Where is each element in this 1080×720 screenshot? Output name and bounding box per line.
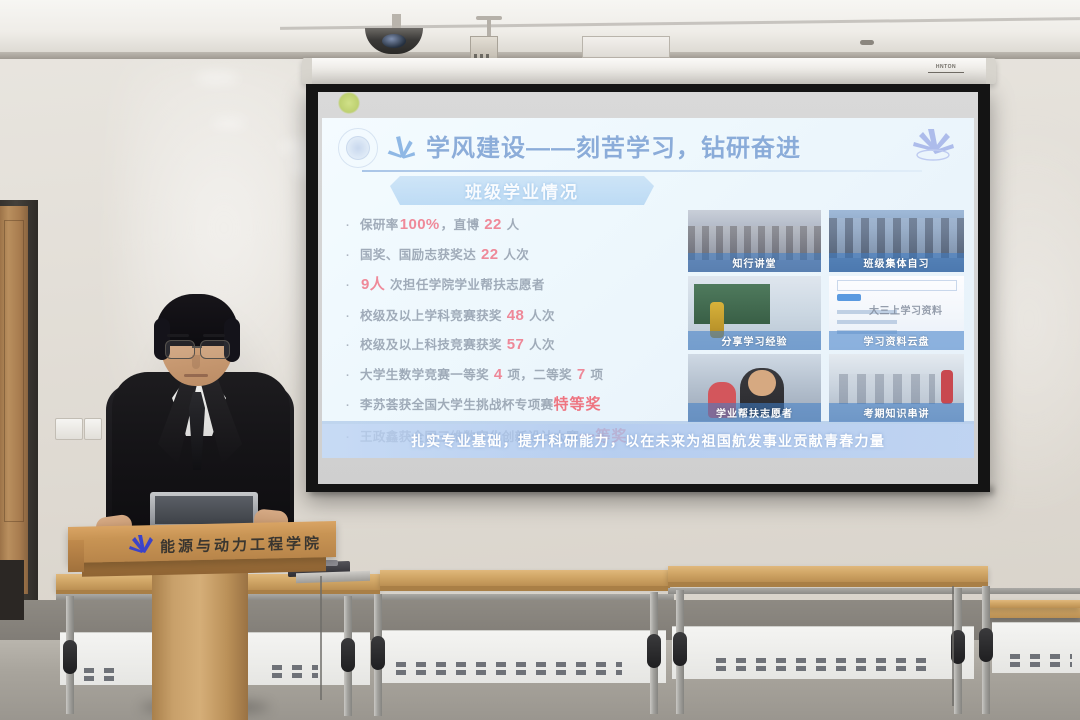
university-seal-icon <box>338 128 378 168</box>
bullet-mid: 次担任学院学业帮扶志愿者 <box>386 278 545 292</box>
bullet-dot-icon: · <box>346 370 360 382</box>
list-item: · 9人 次担任学院学业帮扶志愿者 <box>346 273 682 294</box>
screen-brand-label: HNTON <box>928 64 964 76</box>
photo-seats-texture <box>839 374 935 404</box>
bullet-list: · 保研率100%，直博 22 人 · 国奖、国励志获奖达 22 人次 · 9人… <box>346 214 682 456</box>
photo-caption: 分享学习经验 <box>688 331 821 350</box>
slide-photo: 分享学习经验 <box>688 276 821 350</box>
ui-button-mock <box>837 294 861 301</box>
bullet-post: 人 <box>503 218 520 232</box>
bullet-post: 项 <box>587 368 604 382</box>
podium-side <box>68 540 84 572</box>
bullet-pre: 保研率 <box>360 218 399 232</box>
bullet-highlight: 100% <box>399 216 441 233</box>
presenter-nose <box>192 355 200 369</box>
desk-vent-slots <box>272 665 318 670</box>
photo-caption: 知行讲堂 <box>688 253 821 272</box>
bullet-dot-icon: · <box>346 340 360 352</box>
bullet-dot-icon: · <box>346 250 360 262</box>
wall-scuff <box>212 118 246 128</box>
wall-outlet-right[interactable] <box>84 418 102 440</box>
bullet-highlight: 57 <box>506 336 526 353</box>
lens-flare <box>338 92 360 114</box>
glasses-bridge-icon <box>192 346 202 348</box>
list-item: · 国奖、国励志获奖达 22 人次 <box>346 244 682 263</box>
title-underline <box>362 170 922 172</box>
slide-photo: 班级集体自习 <box>829 210 964 272</box>
bullet-dot-icon: · <box>346 220 360 232</box>
ceiling-air-vent <box>582 36 670 58</box>
photo-caption: 学习资料云盘 <box>829 331 964 350</box>
podium-leaf-logo-icon <box>128 532 156 558</box>
slide-footer-text: 扎实专业基础，提升科研能力，以在未来为祖国航发事业贡献青春力量 <box>322 431 974 451</box>
door-panel <box>4 220 24 522</box>
hanging-cable <box>952 586 954 706</box>
photo-face <box>748 370 776 396</box>
glasses-lens-right-icon <box>200 340 230 359</box>
bullet-highlight: 48 <box>506 307 526 324</box>
ui-row-mock <box>837 320 897 324</box>
desk-leg-cap <box>647 634 661 668</box>
ceiling-soffit <box>0 0 1080 58</box>
hanging-cable <box>320 576 322 700</box>
bullet-highlight: 9人 <box>360 276 386 293</box>
screen-housing-cap-right <box>986 58 996 84</box>
photo-audience-texture <box>829 218 964 258</box>
desk-rail <box>668 588 1080 594</box>
cloud-folder-note: 大三上学习资料 <box>869 302 943 317</box>
bullet-post: 人次 <box>525 338 555 352</box>
list-item: · 保研率100%，直博 22 人 <box>346 214 682 233</box>
bullet-pre: 校级及以上学科竞赛获奖 <box>360 309 506 323</box>
bullet-dot-icon: · <box>346 280 360 292</box>
glasses-lens-left-icon <box>165 340 195 359</box>
bullet-pre: 校级及以上科技竞赛获奖 <box>360 338 506 352</box>
slide-photo: 学业帮扶志愿者 <box>688 354 821 422</box>
photo-blackboard <box>694 284 770 324</box>
bullet-highlight: 22 <box>480 246 500 263</box>
bullet-highlight-2: 22 <box>483 216 503 233</box>
slide-photo: 考期知识串讲 <box>829 354 964 422</box>
desk-vent-slots <box>396 670 622 675</box>
screen-housing-cap-left <box>302 58 312 84</box>
desk-top <box>986 600 1080 608</box>
desk-rail <box>56 594 674 600</box>
bullet-pre: 国奖、国励志获奖达 <box>360 248 480 262</box>
wall-light-sheen-right <box>980 120 1080 520</box>
bullet-mid: 项，二等奖 <box>504 368 576 382</box>
leaf-accent-icon <box>384 132 418 162</box>
podium-label: 能源与动力工程学院 <box>160 532 322 557</box>
projection-screen-housing[interactable] <box>302 58 996 84</box>
section-ribbon-label: 班级学业情况 <box>390 178 654 203</box>
door-lower-shadow <box>0 560 24 620</box>
presentation-slide[interactable]: 学风建设——刻苦学习，钻研奋进 班级学业情况 · 保研率100%，直博 22 人… <box>322 118 974 458</box>
photo-person <box>941 370 953 404</box>
podium-column <box>152 566 248 720</box>
bullet-pre: 大学生数学竞赛一等奖 <box>360 368 493 382</box>
bullet-post: 人次 <box>499 248 529 262</box>
bullet-highlight: 特等奖 <box>554 396 602 413</box>
list-item: · 李苏荟获全国大学生挑战杯专项赛特等奖 <box>346 393 682 414</box>
wall-outlet-left[interactable] <box>55 418 83 440</box>
desk-leg-cap <box>63 640 77 674</box>
presenter-eyebrow-right <box>203 334 225 337</box>
desk-edge <box>380 586 670 591</box>
desk-leg-cap <box>371 636 385 670</box>
desk-modesty-panel <box>376 630 666 683</box>
desk-leg-cap <box>341 638 355 672</box>
desk-leg-cap <box>979 628 993 662</box>
slide-photo: 大三上学习资料 学习资料云盘 <box>829 276 964 350</box>
photo-grid: 知行讲堂 班级集体自习 分享学习经验 大三上学习资料 <box>688 210 964 422</box>
desk-top <box>668 566 988 582</box>
list-item: · 大学生数学竞赛一等奖 4 项，二等奖 7 项 <box>346 364 682 383</box>
presenter-eyebrow-left <box>167 334 189 337</box>
bullet-highlight-2: 7 <box>576 366 587 383</box>
presenter-mouth <box>184 374 208 377</box>
desk-vent-slots <box>396 662 622 667</box>
ui-searchbar-mock <box>837 280 957 291</box>
desk-vent-slots <box>716 666 928 671</box>
list-item: · 校级及以上学科竞赛获奖 48 人次 <box>346 305 682 324</box>
bullet-dot-icon: · <box>346 400 360 412</box>
laptop-screen[interactable] <box>155 496 253 524</box>
desk-vent-slots <box>716 658 928 663</box>
bullet-mid: ，直博 <box>441 218 484 232</box>
desk-vent-slots <box>272 673 318 678</box>
desk-vent-slots <box>84 676 120 681</box>
desk-vent-slots <box>84 668 120 673</box>
list-item: · 校级及以上科技竞赛获奖 57 人次 <box>346 334 682 353</box>
desk-top <box>380 570 670 586</box>
classroom-photo-scene: HNTON 学风建设——刻苦学习，钻研奋进 <box>0 0 1080 720</box>
photo-caption: 考期知识串讲 <box>829 403 964 422</box>
screen-brand-text: HNTON <box>928 64 964 73</box>
desk-modesty-panel <box>672 626 974 679</box>
bullet-highlight: 4 <box>493 366 504 383</box>
desk-vent-slots <box>1010 654 1072 659</box>
wall-scuff <box>195 72 239 84</box>
institution-logo-icon <box>910 126 956 168</box>
bullet-post: 人次 <box>525 309 555 323</box>
slide-title: 学风建设——刻苦学习，钻研奋进 <box>426 128 801 163</box>
desk-leg-cap <box>673 632 687 666</box>
photo-caption: 学业帮扶志愿者 <box>688 403 821 422</box>
bullet-dot-icon: · <box>346 311 360 323</box>
desk-edge <box>668 582 988 587</box>
desk-vent-slots <box>1010 662 1072 667</box>
bullet-pre: 李苏荟获全国大学生挑战杯专项赛 <box>360 398 554 412</box>
slide-photo: 知行讲堂 <box>688 210 821 272</box>
photo-caption: 班级集体自习 <box>829 253 964 272</box>
smoke-detector-icon <box>860 40 874 45</box>
projector-lens-icon <box>382 34 406 48</box>
